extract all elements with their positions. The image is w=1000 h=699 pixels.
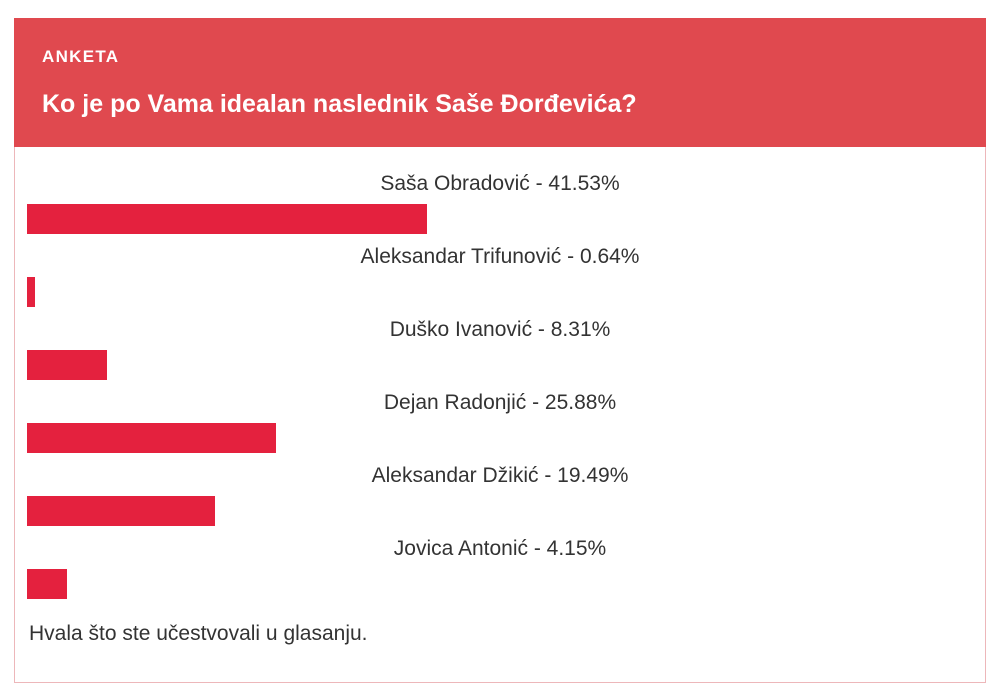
poll-result-bar-fill — [27, 204, 427, 234]
poll-result-bar-fill — [27, 277, 35, 307]
poll-result-item: Aleksandar Džikić - 19.49% — [15, 453, 985, 526]
poll-result-label: Saša Obradović - 41.53% — [15, 161, 985, 204]
poll-result-bar-track — [15, 277, 985, 307]
poll-result-label: Aleksandar Džikić - 19.49% — [15, 453, 985, 496]
poll-header: ANKETA Ko je po Vama idealan naslednik S… — [14, 18, 986, 147]
poll-result-bar-fill — [27, 350, 107, 380]
poll-result-item: Duško Ivanović - 8.31% — [15, 307, 985, 380]
poll-result-item: Jovica Antonić - 4.15% — [15, 526, 985, 599]
poll-result-label: Jovica Antonić - 4.15% — [15, 526, 985, 569]
poll-body: Saša Obradović - 41.53%Aleksandar Trifun… — [14, 147, 986, 683]
poll-footer-text: Hvala što ste učestvovali u glasanju. — [15, 599, 985, 644]
poll-result-label: Duško Ivanović - 8.31% — [15, 307, 985, 350]
poll-result-bar-fill — [27, 423, 276, 453]
poll-result-item: Dejan Radonjić - 25.88% — [15, 380, 985, 453]
poll-result-item: Aleksandar Trifunović - 0.64% — [15, 234, 985, 307]
poll-kicker: ANKETA — [42, 48, 958, 65]
poll-results-list: Saša Obradović - 41.53%Aleksandar Trifun… — [15, 161, 985, 599]
poll-result-bar-track — [15, 569, 985, 599]
poll-result-label: Aleksandar Trifunović - 0.64% — [15, 234, 985, 277]
poll-result-bar-fill — [27, 569, 67, 599]
poll-question: Ko je po Vama idealan naslednik Saše Đor… — [42, 91, 958, 119]
poll-result-bar-track — [15, 496, 985, 526]
poll-result-bar-track — [15, 204, 985, 234]
poll-card: ANKETA Ko je po Vama idealan naslednik S… — [14, 18, 986, 683]
poll-result-item: Saša Obradović - 41.53% — [15, 161, 985, 234]
poll-result-bar-track — [15, 350, 985, 380]
poll-result-label: Dejan Radonjić - 25.88% — [15, 380, 985, 423]
poll-result-bar-fill — [27, 496, 215, 526]
poll-result-bar-track — [15, 423, 985, 453]
